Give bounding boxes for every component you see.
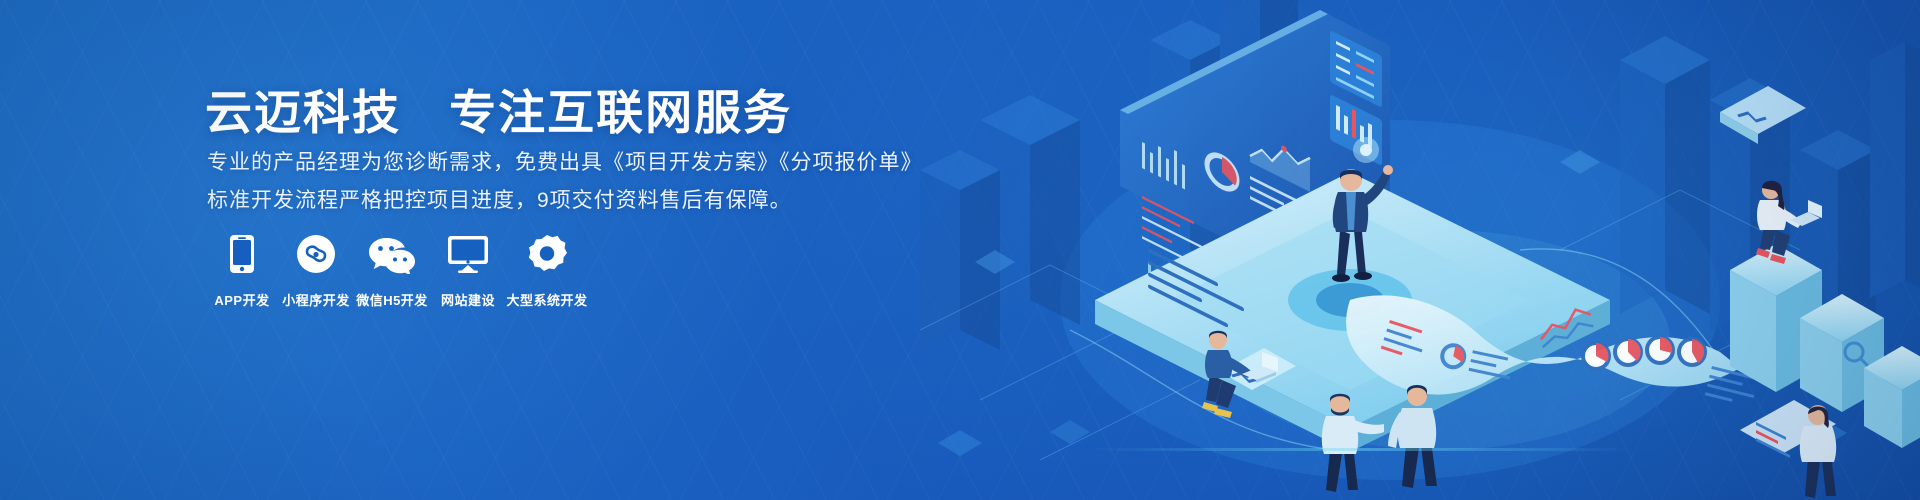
headline-tagline: 专注互联网服务: [449, 86, 792, 139]
wechat-icon: [369, 232, 415, 276]
subtitle-line-1: 专业的产品经理为您诊断需求，免费出具《项目开发方案》《分项报价单》: [207, 146, 923, 176]
gear-icon: [527, 232, 567, 276]
mini-program-icon: [296, 232, 336, 276]
service-item-website[interactable]: 网站建设: [431, 232, 505, 309]
service-item-miniprogram[interactable]: 小程序开发: [279, 232, 353, 309]
service-label: 小程序开发: [282, 290, 350, 309]
desktop-monitor-icon: [447, 232, 489, 276]
service-item-enterprise-system[interactable]: 大型系统开发: [505, 232, 589, 309]
service-label: 网站建设: [441, 290, 495, 309]
mobile-phone-icon: [229, 232, 255, 276]
banner-content: 云迈科技 专注互联网服务 专业的产品经理为您诊断需求，免费出具《项目开发方案》《…: [205, 0, 1085, 500]
service-icon-row: APP开发 小程序开发: [205, 232, 589, 309]
service-item-app[interactable]: APP开发: [205, 232, 279, 309]
service-label: 大型系统开发: [506, 290, 587, 309]
subtitle-line-2: 标准开发流程严格把控项目进度，9项交付资料售后有保障。: [207, 184, 792, 214]
service-item-wechat-h5[interactable]: 微信H5开发: [353, 232, 431, 309]
service-label: 微信H5开发: [356, 290, 428, 309]
service-label: APP开发: [214, 290, 269, 309]
page-title: 云迈科技 专注互联网服务: [205, 74, 792, 143]
headline-brand: 云迈科技: [205, 86, 401, 139]
hero-banner: 云迈科技 专注互联网服务 专业的产品经理为您诊断需求，免费出具《项目开发方案》《…: [0, 0, 1920, 500]
